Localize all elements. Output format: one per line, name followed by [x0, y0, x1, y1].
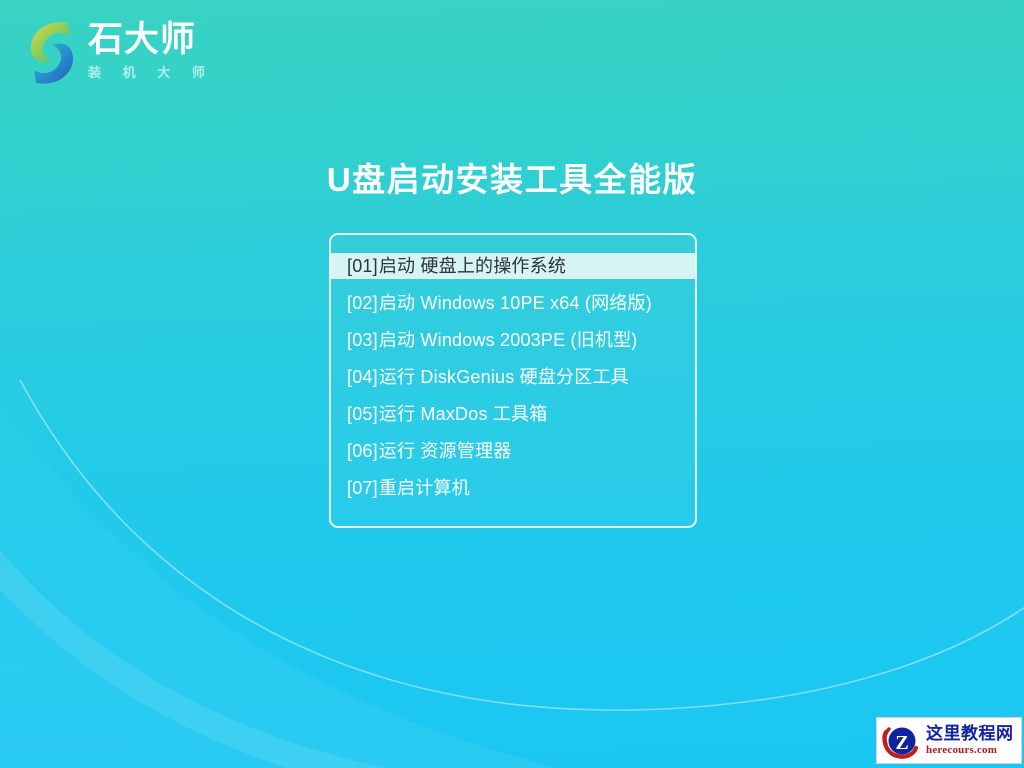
watermark-site-name: 这里教程网 [926, 725, 1014, 742]
z-circle-watermark-logo-icon: Z [880, 720, 922, 762]
menu-item-index: [01] [347, 253, 378, 279]
menu-item-02[interactable]: [02] 启动 Windows 10PE x64 (网络版) [331, 290, 695, 316]
stone-master-swirl-logo-icon [26, 17, 78, 89]
menu-item-03[interactable]: [03] 启动 Windows 2003PE (旧机型) [331, 327, 695, 353]
menu-item-label: 启动 Windows 2003PE (旧机型) [379, 327, 638, 353]
menu-item-01[interactable]: [01] 启动 硬盘上的操作系统 [331, 253, 695, 279]
menu-item-index: [02] [347, 290, 378, 316]
boot-menu-list: [01] 启动 硬盘上的操作系统 [02] 启动 Windows 10PE x6… [331, 235, 695, 512]
menu-item-index: [03] [347, 327, 378, 353]
menu-item-label: 重启计算机 [379, 475, 470, 501]
menu-item-label: 启动 硬盘上的操作系统 [379, 253, 566, 279]
svg-text:Z: Z [895, 732, 908, 754]
menu-item-label: 运行 资源管理器 [379, 438, 512, 464]
menu-item-label: 运行 DiskGenius 硬盘分区工具 [379, 364, 629, 390]
menu-item-index: [05] [347, 401, 378, 427]
menu-item-index: [04] [347, 364, 378, 390]
menu-item-06[interactable]: [06] 运行 资源管理器 [331, 438, 695, 464]
site-watermark: Z 这里教程网 herecours.com [876, 717, 1022, 764]
watermark-domain: herecours.com [926, 745, 1014, 756]
brand-logo: 石大师 装 机 大 师 [26, 17, 214, 89]
menu-item-index: [06] [347, 438, 378, 464]
menu-item-05[interactable]: [05] 运行 MaxDos 工具箱 [331, 401, 695, 427]
menu-item-label: 运行 MaxDos 工具箱 [379, 401, 548, 427]
brand-name: 石大师 [88, 22, 214, 57]
boot-menu-panel: [01] 启动 硬盘上的操作系统 [02] 启动 Windows 10PE x6… [329, 233, 697, 528]
menu-item-07[interactable]: [07] 重启计算机 [331, 475, 695, 501]
brand-tagline: 装 机 大 师 [88, 66, 214, 79]
boot-menu-screen: 石大师 装 机 大 师 U盘启动安装工具全能版 [01] 启动 硬盘上的操作系统… [0, 0, 1024, 768]
menu-item-index: [07] [347, 475, 378, 501]
page-title: U盘启动安装工具全能版 [0, 160, 1024, 200]
menu-item-04[interactable]: [04] 运行 DiskGenius 硬盘分区工具 [331, 364, 695, 390]
menu-item-label: 启动 Windows 10PE x64 (网络版) [379, 290, 652, 316]
